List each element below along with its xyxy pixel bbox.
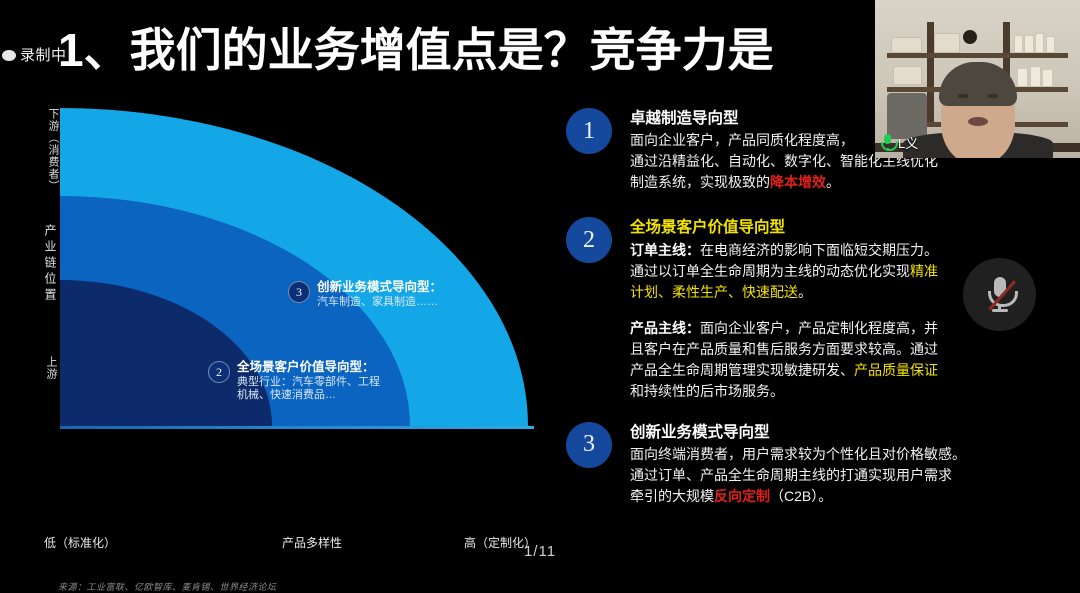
chart-callout-3-title: 创新业务模式导向型： <box>317 280 442 296</box>
item-line-3-3-tail: （C2B）。 <box>770 488 832 504</box>
page-indicator: 1/11 <box>0 543 1080 560</box>
y-axis-label: 产业链位置 <box>30 224 56 304</box>
chart-badge-2: 2 <box>208 361 230 383</box>
recording-indicator: 录制中 <box>2 48 67 63</box>
item-line-3-3-text: 牵引的大规模 <box>630 488 714 504</box>
participant-name-bar: L义 <box>881 133 918 152</box>
item-line-3-2: 通过订单、产品全生命周期主线的打通实现用户需求 <box>630 465 1066 486</box>
x-axis-line <box>60 426 534 429</box>
item-sub-highlight: 产品质量保证 <box>854 362 938 378</box>
item-sub-line-3-text: 产品全生命周期管理实现敏捷研发、 <box>630 362 854 378</box>
item-sub-line-3: 产品全生命周期管理实现敏捷研发、产品质量保证 <box>630 360 1066 381</box>
item-badge-1: 1 <box>566 108 612 154</box>
chart-source-note: 来源：工业富联、亿欧智库、麦肯锡、世界经济论坛 <box>58 580 277 593</box>
item-highlight-3: 反向定制 <box>714 488 770 504</box>
chart-callout-2-title: 全场景客户价值导向型： <box>237 360 385 376</box>
item-highlight-1: 降本增效 <box>770 174 826 190</box>
recording-label: 录制中 <box>20 48 67 63</box>
item-badge-2: 2 <box>566 217 612 263</box>
slide-stage: 录制中 1、我们的业务增值点是？竞争力是 下游（消费者） 产业链位置 上游 3 … <box>0 0 1080 593</box>
participant-mouth <box>968 117 988 126</box>
list-item: 3 创新业务模式导向型 面向终端消费者，用户需求较为个性化且对价格敏感。 通过订… <box>566 422 1066 507</box>
item-sub-line-2: 且客户在产品质量和售后服务方面要求较高。通过 <box>630 339 1066 360</box>
webcam-tile[interactable]: L义 <box>875 0 1080 158</box>
microphone-icon <box>881 134 894 151</box>
item-line-1-3: 制造系统，实现极致的降本增效。 <box>630 172 1066 193</box>
item-highlight-2a: 精准 <box>910 263 938 279</box>
participant-eye-right <box>988 94 998 98</box>
item-line-1-3-text: 制造系统，实现极致的 <box>630 174 770 190</box>
item-line-2-1-text: 在电商经济的影响下面临短交期压力。 <box>700 242 938 258</box>
item-line-1-3-tail: 。 <box>826 174 840 190</box>
item-sub-lead-2: 产品主线： <box>630 320 700 336</box>
y-axis-tick-top: 下游（消费者） <box>28 108 58 192</box>
item-line-2-2-text: 通过以订单全生命周期为主线的动态优化实现 <box>630 263 910 279</box>
microphone-muted-glyph <box>987 277 1013 313</box>
microphone-muted-icon[interactable] <box>963 258 1036 331</box>
item-highlight-2b: 计划、柔性生产、快速配送 <box>630 284 798 300</box>
chart-callout-2-desc: 典型行业：汽车零部件、工程机械、快速消费品… <box>237 376 385 404</box>
spacer <box>566 408 1066 422</box>
item-badge-3: 3 <box>566 422 612 468</box>
item-sub-line-1-text: 面向企业客户，产品定制化程度高，并 <box>700 320 938 336</box>
chart-area: 下游（消费者） 产业链位置 上游 3 创新业务模式导向型： 汽车制造、家具制造…… <box>14 104 534 494</box>
item-lead-2: 订单主线： <box>630 242 700 258</box>
chart-callout-3-desc: 汽车制造、家具制造…… <box>317 296 442 310</box>
spacer <box>566 199 1066 217</box>
item-line-2-3-tail: 。 <box>798 284 812 300</box>
participant-name: L义 <box>898 133 918 152</box>
y-axis-tick-bottom: 上游 <box>30 356 56 380</box>
participant-eye-left <box>958 94 968 98</box>
chart-plot: 3 创新业务模式导向型： 汽车制造、家具制造…… 2 全场景客户价值导向型： 典… <box>60 108 534 426</box>
chart-badge-3: 3 <box>288 281 310 303</box>
item-heading-3: 创新业务模式导向型 <box>630 422 1066 444</box>
item-sub-line-4: 和持续性的后市场服务。 <box>630 381 1066 402</box>
item-heading-2: 全场景客户价值导向型 <box>630 217 1066 239</box>
chart-callout-3: 3 创新业务模式导向型： 汽车制造、家具制造…… <box>288 280 442 309</box>
chart-callout-2: 2 全场景客户价值导向型： 典型行业：汽车零部件、工程机械、快速消费品… <box>208 360 385 403</box>
record-dot-icon <box>2 50 16 61</box>
item-line-3-1: 面向终端消费者，用户需求较为个性化且对价格敏感。 <box>630 444 1066 465</box>
item-line-3-3: 牵引的大规模反向定制（C2B）。 <box>630 486 1066 507</box>
